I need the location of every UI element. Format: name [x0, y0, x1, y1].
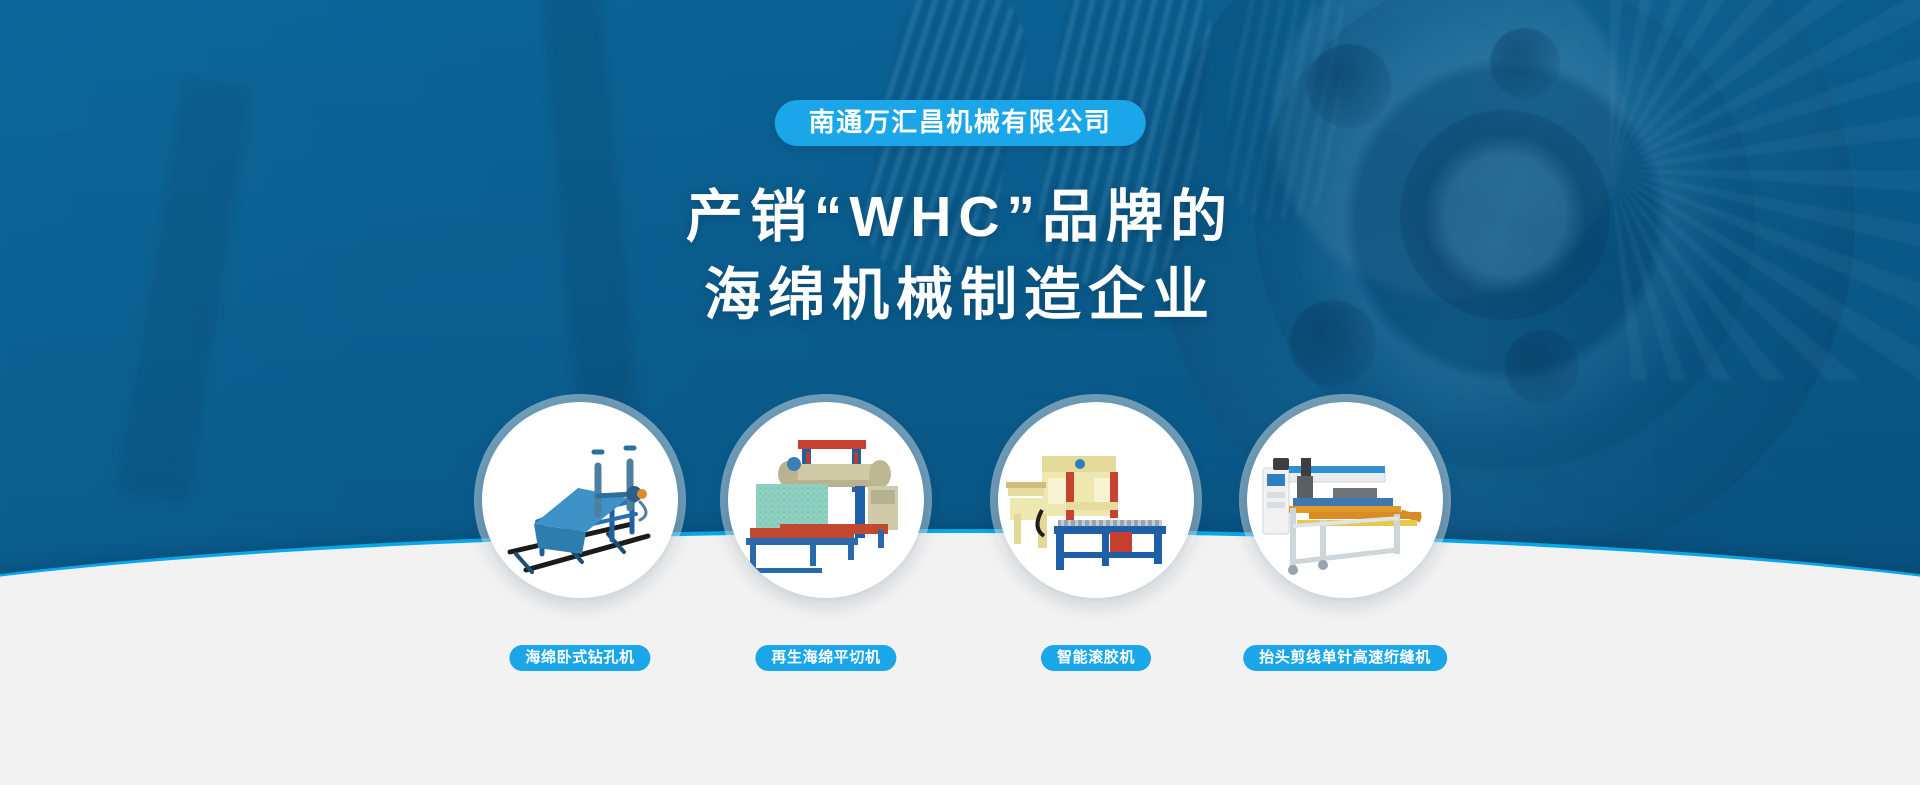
product-item[interactable]: 抬头剪线单针高速绗缝机	[1247, 402, 1443, 598]
product-image-disc	[728, 402, 924, 598]
product-label: 再生海绵平切机	[755, 645, 896, 671]
product-label: 抬头剪线单针高速绗缝机	[1243, 645, 1447, 671]
foam-horizontal-drilling-machine-icon	[482, 402, 678, 598]
hero-banner: 南通万汇昌机械有限公司 产销“WHC”品牌的 海绵机械制造企业	[0, 0, 1920, 785]
product-image-disc	[482, 402, 678, 598]
product-label: 智能滚胶机	[1041, 645, 1151, 671]
product-item[interactable]: 海绵卧式钻孔机	[482, 402, 678, 598]
product-image-disc	[998, 402, 1194, 598]
intelligent-glue-rolling-machine-icon	[998, 402, 1194, 598]
product-item[interactable]: 再生海绵平切机	[728, 402, 924, 598]
product-image-disc	[1247, 402, 1443, 598]
product-highlights: 海绵卧式钻孔机	[0, 0, 1920, 785]
product-label: 海绵卧式钻孔机	[509, 645, 650, 671]
recycled-foam-flat-cutting-machine-icon	[728, 402, 924, 598]
product-item[interactable]: 智能滚胶机	[998, 402, 1194, 598]
single-needle-high-speed-quilting-machine-icon	[1247, 402, 1443, 598]
